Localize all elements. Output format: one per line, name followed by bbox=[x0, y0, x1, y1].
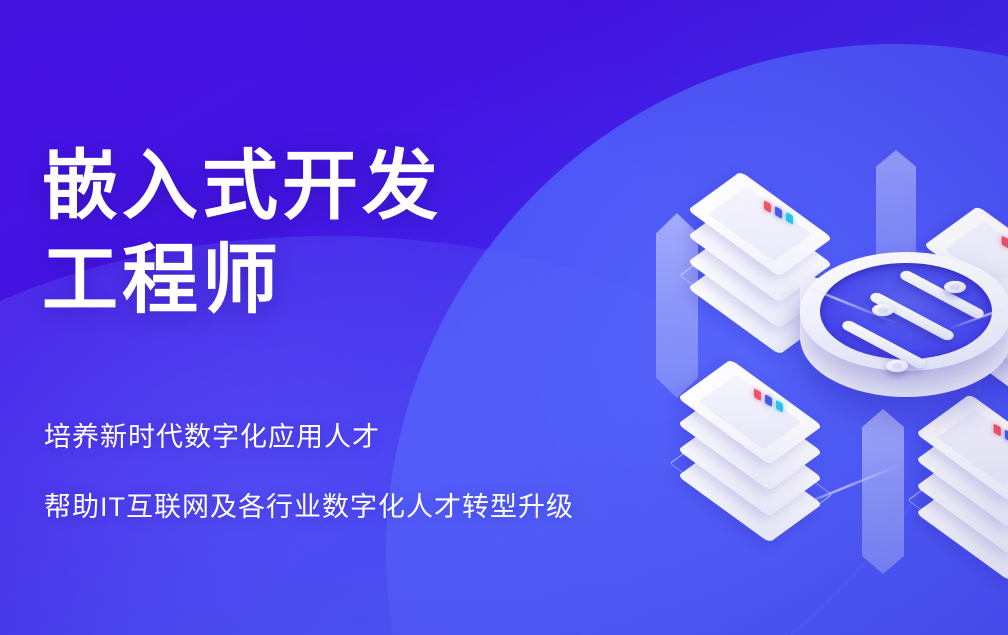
promo-banner: 嵌入式开发 工程师 培养新时代数字化应用人才 帮助IT互联网及各行业数字化人才转… bbox=[0, 0, 1008, 635]
server-slab bbox=[678, 437, 823, 542]
pillar-lower-right bbox=[862, 409, 904, 574]
led-red-icon bbox=[994, 424, 1001, 437]
server-slab bbox=[916, 447, 1008, 554]
led-blue-icon bbox=[775, 206, 782, 219]
server-node-top-left bbox=[692, 142, 868, 332]
server-slab bbox=[924, 286, 1008, 393]
subtitle-line-2: 帮助IT互联网及各行业数字化人才转型升级 bbox=[44, 490, 574, 524]
led-red-icon bbox=[754, 388, 761, 401]
subtitle-block: 培养新时代数字化应用人才 帮助IT互联网及各行业数字化人才转型升级 bbox=[44, 420, 574, 524]
server-node-bottom-right bbox=[920, 364, 1008, 558]
server-slab-top bbox=[678, 359, 823, 464]
server-led-group bbox=[994, 424, 1008, 449]
server-slab bbox=[688, 223, 833, 328]
server-slab bbox=[688, 197, 833, 302]
server-led-group bbox=[754, 388, 783, 412]
server-slab bbox=[688, 249, 833, 354]
headline-block: 嵌入式开发 工程师 bbox=[42, 140, 442, 328]
server-slab-top bbox=[924, 206, 1008, 313]
server-slab bbox=[916, 474, 1008, 581]
server-slab bbox=[678, 411, 823, 516]
server-base-plate bbox=[915, 268, 1008, 389]
subtitle-line-1: 培养新时代数字化应用人才 bbox=[44, 420, 574, 454]
server-led-group bbox=[1002, 236, 1008, 261]
server-led-group bbox=[764, 200, 793, 224]
server-slab-top bbox=[688, 171, 833, 276]
control-disc bbox=[800, 252, 1008, 412]
connection-streak bbox=[947, 296, 1008, 331]
pillar-left bbox=[656, 213, 698, 398]
disc-rim-top bbox=[800, 252, 1008, 371]
slider-track bbox=[898, 269, 987, 320]
connection-streak bbox=[786, 278, 898, 325]
slider-knob bbox=[886, 360, 908, 372]
background-orb bbox=[386, 44, 1008, 635]
led-blue-icon bbox=[765, 394, 772, 407]
server-slab bbox=[916, 421, 1008, 528]
slider-knob bbox=[872, 304, 894, 316]
led-cyan-icon bbox=[776, 400, 783, 413]
server-node-bottom-left bbox=[682, 330, 858, 520]
led-red-icon bbox=[1002, 236, 1008, 249]
server-slab-top bbox=[916, 394, 1008, 501]
led-red-icon bbox=[764, 200, 771, 213]
led-cyan-icon bbox=[786, 212, 793, 225]
slider-knob bbox=[944, 281, 966, 293]
pillar-middle bbox=[876, 150, 916, 300]
server-base-plate bbox=[669, 420, 832, 538]
server-base-plate bbox=[907, 456, 1008, 577]
connection-streak bbox=[790, 464, 902, 511]
disc-rim-side bbox=[800, 278, 1008, 397]
server-slab bbox=[924, 259, 1008, 366]
headline-line-1: 嵌入式开发 bbox=[42, 140, 442, 234]
server-slab bbox=[924, 233, 1008, 340]
headline-line-2: 工程师 bbox=[42, 234, 442, 328]
slider-track bbox=[868, 291, 957, 342]
slider-track bbox=[840, 319, 929, 370]
connection-streak bbox=[943, 454, 1008, 489]
server-node-top-right bbox=[928, 176, 1008, 370]
disc-inner-well bbox=[820, 263, 992, 359]
server-base-plate bbox=[679, 232, 842, 350]
server-slab bbox=[678, 385, 823, 490]
